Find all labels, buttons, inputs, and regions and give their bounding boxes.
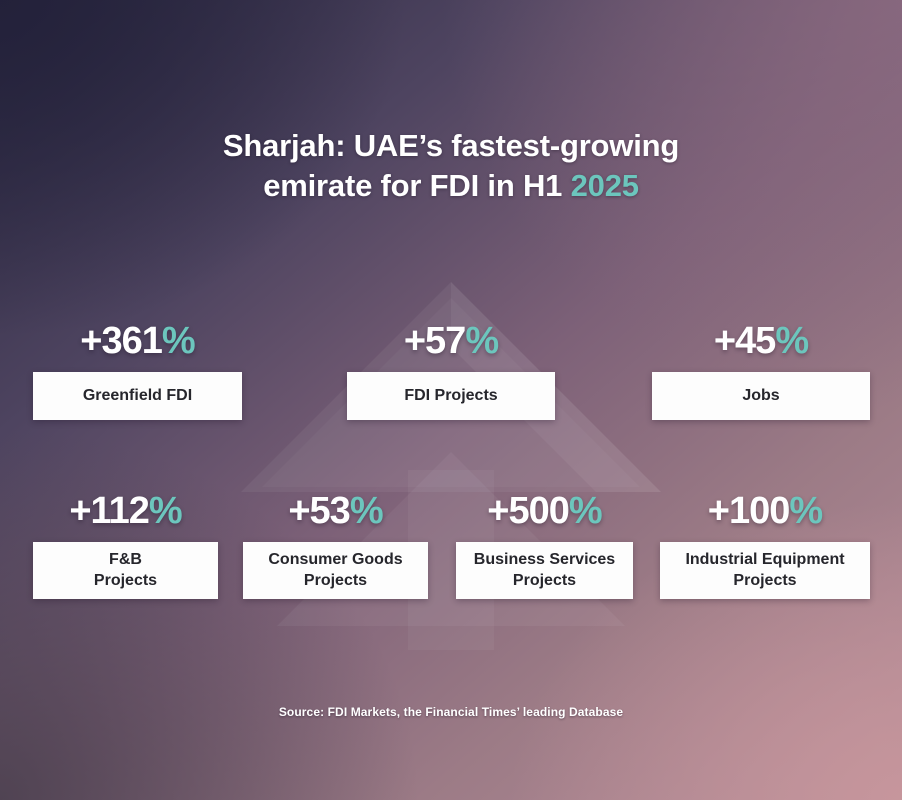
stat-consumer-goods-projects-percent: % (350, 490, 383, 532)
stat-jobs-value: +45% (714, 322, 808, 360)
stat-business-services-projects-number: +500 (487, 490, 569, 532)
stat-fb-projects-number: +112 (69, 490, 149, 532)
stat-business-services-projects-value: +500% (487, 492, 601, 530)
stat-fdi-projects-label: FDI Projects (404, 386, 497, 407)
stat-industrial-equipment-projects-label-line2: Projects (733, 571, 796, 592)
stat-industrial-equipment-projects-label-line1: Industrial Equipment (685, 550, 844, 571)
stat-consumer-goods-projects-value: +53% (288, 492, 382, 530)
title-year-accent: 2025 (571, 168, 639, 203)
stat-consumer-goods-projects-label-line1: Consumer Goods (268, 550, 402, 571)
stat-greenfield-fdi-label: Greenfield FDI (83, 386, 192, 407)
stat-industrial-equipment-projects-value: +100% (708, 492, 822, 530)
stat-greenfield-fdi-percent: % (162, 320, 195, 362)
stat-industrial-equipment-projects: +100% Industrial Equipment Projects (660, 492, 870, 599)
stat-consumer-goods-projects-number: +53 (288, 490, 349, 532)
stat-fdi-projects: +57% FDI Projects (347, 322, 555, 420)
stat-fb-projects-percent: % (149, 490, 182, 532)
stat-fb-projects-label-line2: Projects (94, 571, 157, 592)
stat-jobs-percent: % (775, 320, 808, 362)
stat-greenfield-fdi-box: Greenfield FDI (33, 372, 242, 420)
stat-industrial-equipment-projects-percent: % (789, 490, 822, 532)
stat-business-services-projects: +500% Business Services Projects (456, 492, 633, 599)
title-line-2: emirate for FDI in H1 2025 (0, 166, 902, 206)
stat-greenfield-fdi-value: +361% (80, 322, 194, 360)
stat-fdi-projects-box: FDI Projects (347, 372, 555, 420)
stats-row-secondary: +112% F&B Projects +53% Consumer Goods P… (0, 492, 902, 599)
stat-industrial-equipment-projects-number: +100 (708, 490, 790, 532)
stat-fb-projects-box: F&B Projects (33, 542, 218, 599)
stat-business-services-projects-box: Business Services Projects (456, 542, 633, 599)
stat-fb-projects: +112% F&B Projects (33, 492, 218, 599)
title-line-2-main: emirate for FDI in H1 (263, 168, 570, 203)
stats-row-primary: +361% Greenfield FDI +57% FDI Projects +… (0, 322, 902, 420)
stat-fb-projects-label-line1: F&B (109, 550, 142, 571)
stat-consumer-goods-projects-box: Consumer Goods Projects (243, 542, 428, 599)
stat-fdi-projects-value: +57% (404, 322, 498, 360)
stat-jobs-number: +45 (714, 320, 775, 362)
stat-jobs-label: Jobs (742, 386, 779, 407)
stat-jobs: +45% Jobs (652, 322, 870, 420)
stat-jobs-box: Jobs (652, 372, 870, 420)
source-note: Source: FDI Markets, the Financial Times… (0, 705, 902, 719)
stat-greenfield-fdi: +361% Greenfield FDI (33, 322, 242, 420)
stat-business-services-projects-percent: % (569, 490, 602, 532)
stat-fb-projects-value: +112% (69, 492, 181, 530)
stat-industrial-equipment-projects-box: Industrial Equipment Projects (660, 542, 870, 599)
title-line-1: Sharjah: UAE’s fastest-growing (0, 126, 902, 166)
stat-business-services-projects-label-line2: Projects (513, 571, 576, 592)
stat-fdi-projects-number: +57 (404, 320, 465, 362)
page-title: Sharjah: UAE’s fastest-growing emirate f… (0, 126, 902, 207)
stat-fdi-projects-percent: % (465, 320, 498, 362)
stat-consumer-goods-projects: +53% Consumer Goods Projects (243, 492, 428, 599)
stat-greenfield-fdi-number: +361 (80, 320, 162, 362)
stat-business-services-projects-label-line1: Business Services (474, 550, 615, 571)
stat-consumer-goods-projects-label-line2: Projects (304, 571, 367, 592)
infographic-canvas: Sharjah: UAE’s fastest-growing emirate f… (0, 0, 902, 800)
